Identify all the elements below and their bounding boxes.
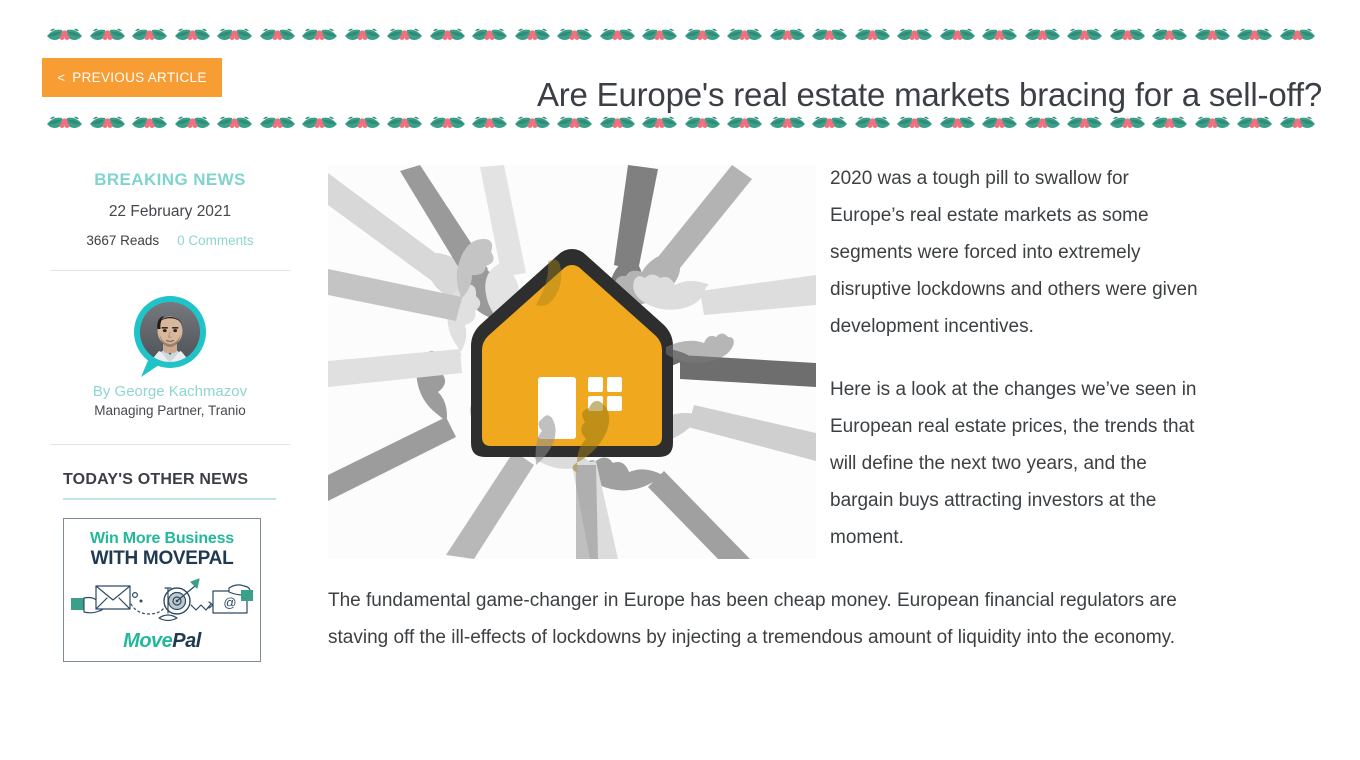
article-header: < PREVIOUS ARTICLE Are Europe's real est… [0, 58, 1360, 102]
holly-leaf-icon [172, 24, 215, 46]
breaking-news-label: BREAKING NEWS [44, 170, 296, 190]
holly-leaf-icon [1192, 24, 1235, 46]
holly-leaf-icon [1022, 24, 1065, 46]
holly-leaf-icon [894, 112, 937, 134]
content-area: BREAKING NEWS 22 February 2021 3667 Read… [0, 152, 1360, 760]
comment-count-link[interactable]: 0 Comments [177, 233, 254, 248]
article-body: 2020 was a tough pill to swallow for Eur… [328, 160, 1200, 656]
holly-leaf-icon [512, 24, 555, 46]
holly-leaf-icon [597, 24, 640, 46]
movepal-logo-move: Move [123, 630, 172, 652]
holly-leaf-icon [512, 112, 555, 134]
holly-leaf-icon [427, 24, 470, 46]
svg-text:@: @ [223, 595, 236, 610]
holly-leaf-icon [724, 112, 767, 134]
holly-leaf-icon [342, 24, 385, 46]
holly-leaf-icon [979, 24, 1022, 46]
holly-leaf-icon [427, 112, 470, 134]
holly-leaf-icon [597, 112, 640, 134]
author-avatar-wrap [44, 293, 296, 379]
movepal-logo-pal: Pal [172, 630, 201, 652]
hero-image-hands-reaching-for-house [328, 165, 816, 559]
article-paragraph-3: The fundamental game-changer in Europe h… [328, 582, 1200, 656]
article-date: 22 February 2021 [44, 203, 296, 221]
holly-leaf-icon [87, 112, 130, 134]
sidebar-divider-2 [50, 444, 290, 445]
holly-leaf-icon [469, 24, 512, 46]
holly-leaf-icon [257, 24, 300, 46]
holly-leaf-icon [894, 24, 937, 46]
holly-leaf-icon [469, 112, 512, 134]
author-role: Managing Partner, Tranio [44, 403, 296, 418]
holly-leaf-icon [937, 112, 980, 134]
decorative-border-bottom [44, 112, 1320, 134]
holly-leaf-icon [299, 24, 342, 46]
article-sidebar: BREAKING NEWS 22 February 2021 3667 Read… [44, 152, 296, 662]
movepal-ad-banner[interactable]: Win More Business WITH MOVEPAL [63, 518, 261, 662]
chevron-left-icon: < [57, 71, 65, 84]
previous-article-button[interactable]: < PREVIOUS ARTICLE [42, 58, 222, 97]
holly-leaf-icon [257, 112, 300, 134]
holly-leaf-icon [384, 112, 427, 134]
holly-leaf-icon [1277, 112, 1320, 134]
holly-leaf-icon [1149, 24, 1192, 46]
holly-leaf-icon [44, 112, 87, 134]
previous-article-label: PREVIOUS ARTICLE [72, 70, 206, 85]
holly-leaf-icon [852, 112, 895, 134]
holly-leaf-icon [1064, 24, 1107, 46]
page-title: Are Europe's real estate markets bracing… [537, 76, 1322, 114]
read-count: 3667 Reads [86, 233, 159, 248]
author-name-link[interactable]: By George Kachmazov [44, 383, 296, 400]
holly-leaf-icon [767, 112, 810, 134]
holly-leaf-icon [639, 112, 682, 134]
holly-leaf-icon [682, 112, 725, 134]
holly-leaf-icon [554, 112, 597, 134]
ad-illustration: @ [64, 574, 260, 628]
holly-leaf-icon [87, 24, 130, 46]
holly-leaf-icon [809, 112, 852, 134]
holly-leaf-icon [682, 24, 725, 46]
holly-leaf-icon [554, 24, 597, 46]
holly-leaf-icon [342, 112, 385, 134]
holly-leaf-icon [1107, 112, 1150, 134]
holly-leaf-icon [384, 24, 427, 46]
holly-leaf-icon [1107, 24, 1150, 46]
holly-leaf-icon [1234, 112, 1277, 134]
holly-leaf-icon [1064, 112, 1107, 134]
ad-headline-1: Win More Business [64, 530, 260, 548]
holly-leaf-icon [299, 112, 342, 134]
holly-leaf-icon [1149, 112, 1192, 134]
holly-leaf-icon [129, 24, 172, 46]
holly-leaf-icon [1022, 112, 1065, 134]
holly-leaf-icon [767, 24, 810, 46]
holly-leaf-icon [979, 112, 1022, 134]
holly-leaf-icon [724, 24, 767, 46]
article-stats: 3667 Reads0 Comments [44, 233, 296, 248]
decorative-border-top [44, 24, 1320, 46]
holly-leaf-icon [809, 24, 852, 46]
holly-leaf-icon [172, 112, 215, 134]
sidebar-divider-1 [50, 270, 290, 271]
holly-leaf-icon [937, 24, 980, 46]
holly-leaf-icon [639, 24, 682, 46]
holly-leaf-icon [129, 112, 172, 134]
holly-leaf-icon [214, 112, 257, 134]
holly-leaf-icon [1277, 24, 1320, 46]
avatar[interactable] [131, 293, 209, 379]
holly-leaf-icon [1192, 112, 1235, 134]
holly-leaf-icon [44, 24, 87, 46]
ad-headline-2: WITH MOVEPAL [64, 548, 260, 570]
holly-leaf-icon [214, 24, 257, 46]
other-news-underline [63, 498, 276, 500]
holly-leaf-icon [852, 24, 895, 46]
other-news-heading: TODAY'S OTHER NEWS [63, 471, 296, 489]
movepal-logo: MovePal [64, 630, 260, 653]
holly-leaf-icon [1234, 24, 1277, 46]
